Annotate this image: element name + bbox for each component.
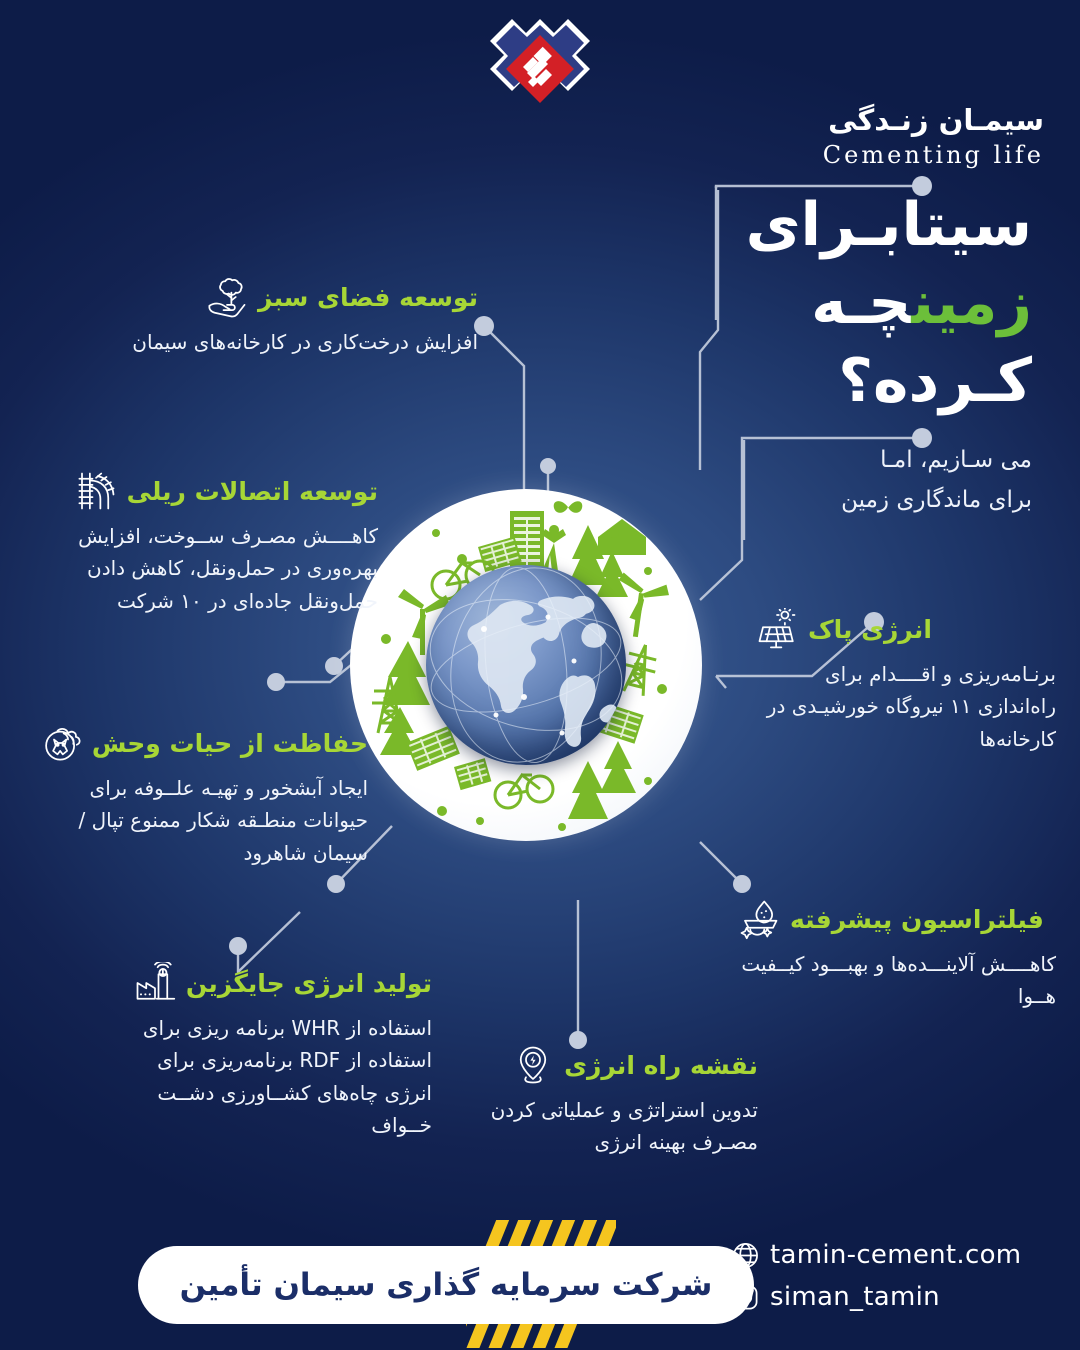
page-title: سیتابـرای زمینچـه کـرده؟ (612, 186, 1032, 420)
wildlife-animal-icon (40, 722, 82, 764)
item-clean-energy-title-row: انرژی پاک (756, 608, 1056, 650)
item-alt-energy-title-row: تولید انرژی جایگزین (112, 962, 432, 1004)
instagram-row[interactable]: siman_tamin (732, 1282, 1032, 1312)
item-wildlife-title: حفاظت از حیات وحش (92, 731, 368, 756)
subheadline: می سـازیم، امـا برای ماندگاری زمین (662, 440, 1032, 521)
instagram-text: siman_tamin (770, 1282, 940, 1312)
brand-name-fa: سیمـان زنـدگی (624, 104, 1044, 137)
website-text: tamin-cement.com (770, 1240, 1021, 1270)
solar-panel-icon (756, 608, 798, 650)
item-rail-title-row: توسعه اتصالات ریلی (34, 470, 378, 512)
company-name: شرکت سرمایه گذاری سیمان تأمین (180, 1267, 713, 1303)
earth-sphere (426, 565, 626, 765)
subheadline-line-1: می سـازیم، امـا (662, 440, 1032, 480)
railway-track-icon (75, 470, 117, 512)
brand-block: سیمـان زنـدگی Cementing life (624, 104, 1044, 169)
hand-holding-tree-icon (206, 276, 248, 318)
item-green-space-title: توسعه فضای سبز (258, 285, 478, 310)
item-filtration-desc: کاهــــش آلاینـــده‌ها و بهبـــود کیــفی… (738, 948, 1056, 1013)
item-filtration[interactable]: فیلتراسیون پیشرفته کاهــــش آلاینـــده‌ه… (738, 898, 1056, 1013)
item-wildlife-title-row: حفاظت از حیات وحش (38, 722, 368, 764)
item-clean-energy-desc: برنـامه‌ریزی و اقــــدام برای راه‌اندازی… (756, 658, 1056, 755)
item-roadmap-desc: تدوین استراتژی و عملیاتی کردن مصـرف بهین… (452, 1094, 758, 1159)
footer: شرکت سرمایه گذاری سیمان تأمین tamin-ceme… (0, 1218, 1080, 1350)
energy-pin-icon (512, 1044, 554, 1086)
item-roadmap-title-row: نقشه راه انرژی (452, 1044, 758, 1086)
headline-line-3: کـرده؟ (612, 342, 1032, 420)
item-filtration-title-row: فیلتراسیون پیشرفته (738, 898, 1056, 940)
item-wildlife-desc: ایجاد آبشخور و تهیـه علــوفه برای حیوانا… (38, 772, 368, 869)
instagram-icon (732, 1284, 759, 1311)
website-row[interactable]: tamin-cement.com (732, 1240, 1032, 1270)
headline-line-1: سیتابـرای (612, 186, 1032, 264)
item-alt-energy[interactable]: تولید انرژی جایگزین استفاده از WHR برنام… (112, 962, 432, 1142)
item-wildlife[interactable]: حفاظت از حیات وحش ایجاد آبشخور و تهیـه ع… (38, 722, 368, 869)
item-green-space-title-row: توسعه فضای سبز (48, 276, 478, 318)
contact-block: tamin-cement.com siman_tamin (732, 1240, 1032, 1324)
item-clean-energy[interactable]: انرژی پاک برنـامه‌ریزی و اقــــدام برای … (756, 608, 1056, 755)
filter-droplet-icon (738, 898, 780, 940)
headline-green-word: زمین (911, 268, 1032, 338)
item-roadmap-title: نقشه راه انرژی (564, 1053, 758, 1078)
item-roadmap[interactable]: نقشه راه انرژی تدوین استراتژی و عملیاتی … (452, 1044, 758, 1159)
item-rail[interactable]: توسعه اتصالات ریلی کاهــــش مصـرف ســوخت… (34, 470, 378, 617)
infographic-poster: سیمـان زنـدگی Cementing life سیتابـرای ز… (0, 0, 1080, 1350)
globe-icon (732, 1242, 759, 1269)
item-rail-title: توسعه اتصالات ریلی (127, 479, 378, 504)
eco-globe-illustration (350, 489, 702, 841)
brand-name-en: Cementing life (624, 141, 1044, 169)
item-green-space[interactable]: توسعه فضای سبز افزایش درخت‌کاری در کارخا… (48, 276, 478, 358)
item-filtration-title: فیلتراسیون پیشرفته (790, 907, 1044, 932)
item-alt-energy-desc: استفاده از WHR برنامه ریزی برای استفاده … (112, 1012, 432, 1142)
item-alt-energy-title: تولید انرژی جایگزین (186, 971, 432, 996)
item-clean-energy-title: انرژی پاک (808, 617, 932, 642)
factory-antenna-icon (134, 962, 176, 1004)
item-rail-desc: کاهــــش مصـرف ســوخت، افزایش بهره‌وری د… (34, 520, 378, 617)
headline-line-2-rest: چـه (811, 268, 911, 338)
item-green-space-desc: افزایش درخت‌کاری در کارخانه‌های سیمان (48, 326, 478, 358)
headline-line-2: زمینچـه (612, 264, 1032, 342)
subheadline-line-2: برای ماندگاری زمین (662, 480, 1032, 520)
company-name-pill: شرکت سرمایه گذاری سیمان تأمین (138, 1246, 754, 1324)
tamin-diamond-logo-icon (485, 14, 595, 124)
